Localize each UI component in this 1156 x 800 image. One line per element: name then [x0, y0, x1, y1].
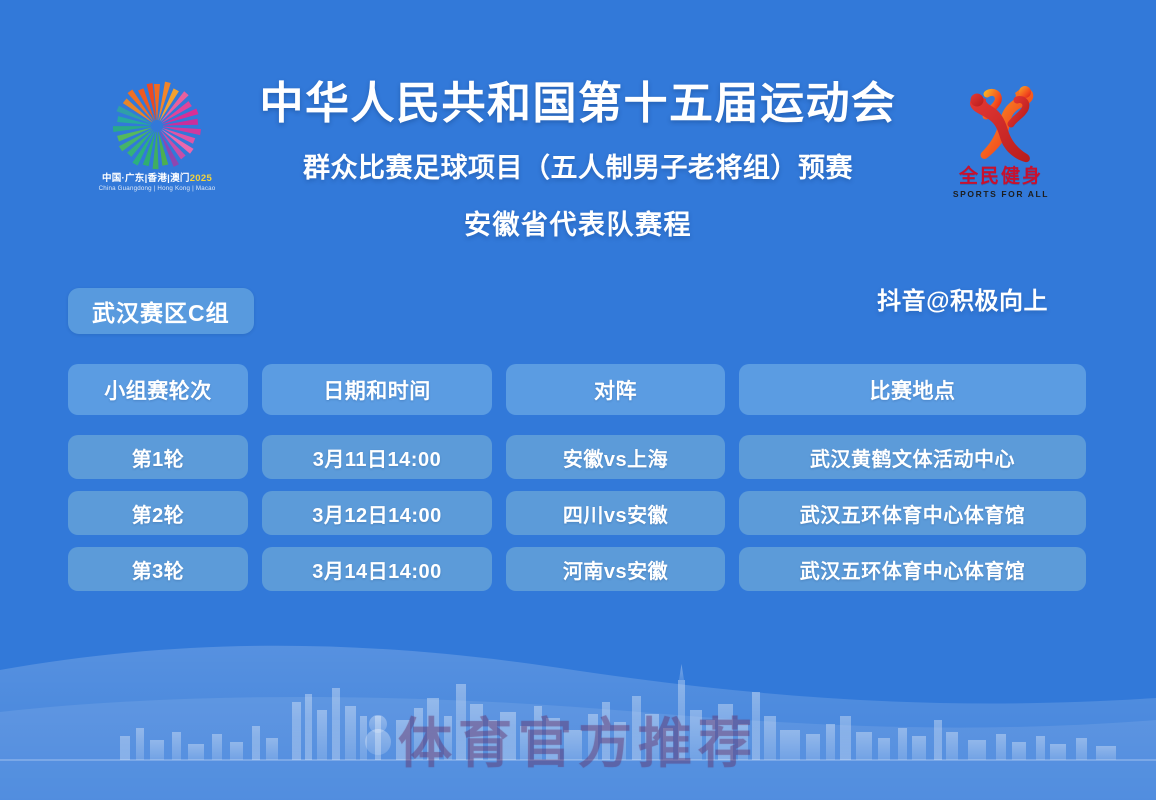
skyline-wave-graphic [0, 620, 1156, 800]
cell-venue: 武汉五环体育中心体育馆 [739, 547, 1086, 591]
cell-datetime: 3月14日14:00 [262, 547, 492, 591]
games-logo-caption: 中国·广东|香港|澳门2025 China Guangdong | Hong K… [92, 174, 222, 192]
table-header-row: 小组赛轮次 日期和时间 对阵 比赛地点 [68, 364, 1090, 415]
sports-for-all-title-cn: 全民健身 [942, 167, 1060, 186]
column-header-venue: 比赛地点 [739, 364, 1086, 415]
douyin-handle: 抖音@积极向上 [877, 281, 1048, 316]
schedule-table: 小组赛轮次 日期和时间 对阵 比赛地点 第1轮 3月11日14:00 安徽vs上… [68, 364, 1090, 591]
cell-matchup: 河南vs安徽 [506, 547, 725, 591]
column-header-datetime: 日期和时间 [262, 364, 492, 415]
sports-for-all-logo-icon: 全民健身 SPORTS FOR ALL [942, 80, 1060, 208]
bottom-decoration: 体育官方推荐 [0, 620, 1156, 800]
games-logo-caption-en: China Guangdong | Hong Kong | Macao [92, 186, 222, 193]
poster-header: 中国·广东|香港|澳门2025 China Guangdong | Hong K… [0, 78, 1156, 268]
table-row: 第3轮 3月14日14:00 河南vs安徽 武汉五环体育中心体育馆 [68, 547, 1090, 591]
sports-for-all-title-en: SPORTS FOR ALL [942, 189, 1060, 199]
column-header-matchup: 对阵 [506, 364, 725, 415]
cell-venue: 武汉五环体育中心体育馆 [739, 491, 1086, 535]
cell-venue: 武汉黄鹤文体活动中心 [739, 435, 1086, 479]
cell-round: 第2轮 [68, 491, 248, 535]
cell-round: 第3轮 [68, 547, 248, 591]
column-header-round: 小组赛轮次 [68, 364, 248, 415]
subtitle-team-schedule: 安徽省代表队赛程 [222, 203, 934, 242]
cell-matchup: 安徽vs上海 [506, 435, 725, 479]
group-badge: 武汉赛区C组 [68, 288, 254, 334]
watermark-text: 体育官方推荐 [0, 699, 1156, 778]
table-row: 第1轮 3月11日14:00 安徽vs上海 武汉黄鹤文体活动中心 [68, 435, 1090, 479]
subtitle-event: 群众比赛足球项目（五人制男子老将组）预赛 [222, 146, 934, 185]
games-logo-caption-year: 2025 [190, 173, 212, 184]
title-block: 中华人民共和国第十五届运动会 群众比赛足球项目（五人制男子老将组）预赛 安徽省代… [222, 78, 934, 242]
cell-datetime: 3月12日14:00 [262, 491, 492, 535]
table-row: 第2轮 3月12日14:00 四川vs安徽 武汉五环体育中心体育馆 [68, 491, 1090, 535]
page-title: 中华人民共和国第十五届运动会 [222, 78, 934, 130]
cell-round: 第1轮 [68, 435, 248, 479]
cell-datetime: 3月11日14:00 [262, 435, 492, 479]
games-logo-caption-cn: 中国·广东|香港|澳门 [102, 173, 190, 184]
cell-matchup: 四川vs安徽 [506, 491, 725, 535]
